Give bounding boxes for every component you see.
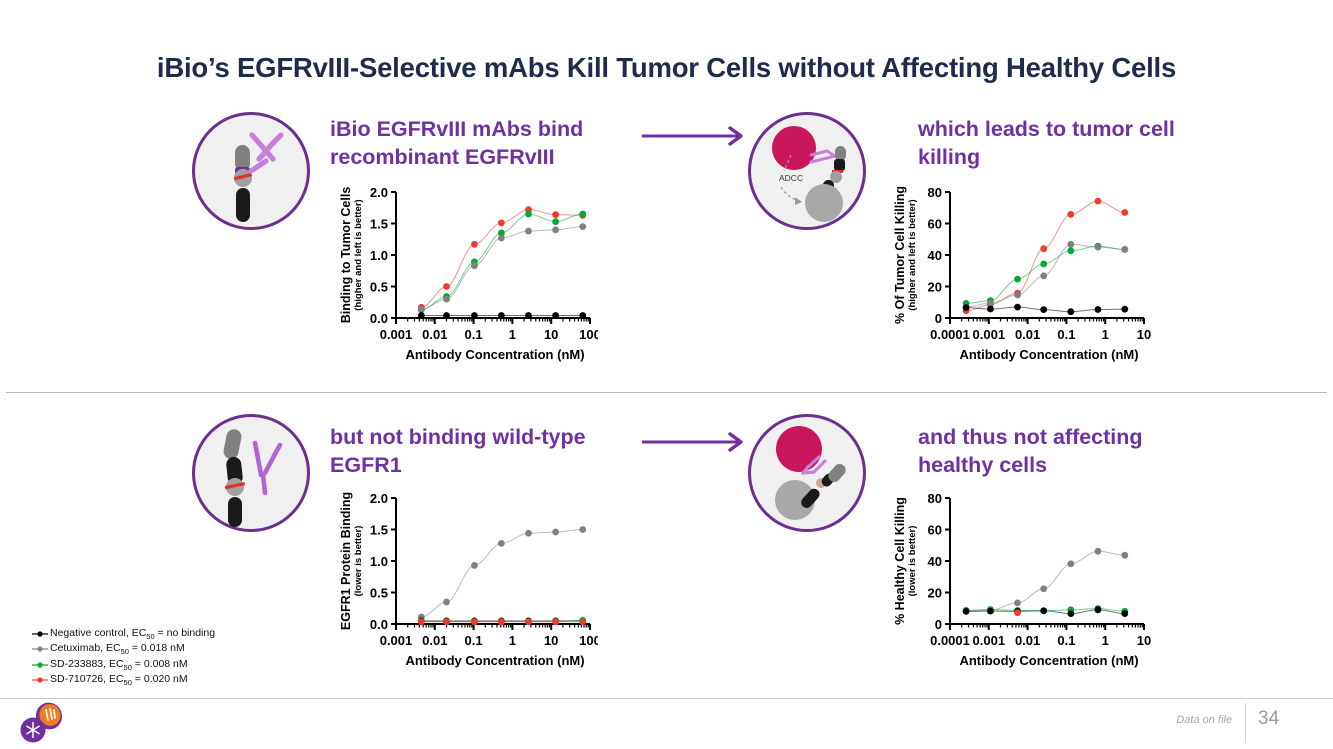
- data-point: [1095, 306, 1102, 313]
- data-point: [1121, 552, 1128, 559]
- data-point: [1095, 244, 1102, 251]
- data-point: [963, 304, 970, 311]
- data-point: [552, 529, 559, 536]
- x-axis-title: Antibody Concentration (nM): [959, 347, 1138, 362]
- source-note: Data on file: [1140, 714, 1232, 726]
- data-point: [1040, 607, 1047, 614]
- data-point: [1095, 548, 1102, 555]
- series-cetuximab: [418, 223, 586, 312]
- data-point: [1040, 585, 1047, 592]
- data-point: [471, 262, 478, 269]
- data-point: [471, 312, 478, 319]
- data-point: [498, 219, 505, 226]
- y-tick-label: 40: [928, 554, 942, 569]
- legend-label: Cetuximab, EC50 = 0.018 nM: [50, 642, 185, 656]
- data-point: [1067, 211, 1074, 218]
- diagram-antibody-not-binding-receptor: [192, 414, 310, 532]
- legend-label: Negative control, EC50 = no binding: [50, 627, 215, 641]
- receptor-chain: [234, 145, 252, 222]
- y-tick-label: 0: [935, 311, 942, 326]
- antibody-magenta: [251, 135, 281, 171]
- data-point: [579, 312, 586, 319]
- y-tick-label: 0.5: [370, 586, 388, 601]
- x-tick-label: 0.01: [422, 633, 447, 648]
- antibody-magenta: [811, 151, 835, 162]
- data-point: [1095, 198, 1102, 205]
- chart-egfr1-protein-binding-svg: 0.00.51.01.52.00.0010.010.1110100Antibod…: [336, 484, 598, 676]
- data-point: [1121, 246, 1128, 253]
- legend-marker-icon: [30, 675, 50, 685]
- series-sd-710726: [1014, 609, 1021, 616]
- x-tick-label: 100: [579, 633, 598, 648]
- chart-healthy-cell-killing-svg: 0204060800.00010.0010.010.1110Antibody C…: [890, 484, 1152, 676]
- data-point: [1040, 272, 1047, 279]
- x-tick-label: 0.01: [1015, 633, 1040, 648]
- footer-vertical-rule: [1245, 703, 1246, 743]
- data-point: [525, 228, 532, 235]
- data-point: [1040, 306, 1047, 313]
- data-point: [471, 241, 478, 248]
- x-axis-title: Antibody Concentration (nM): [405, 653, 584, 668]
- x-tick-label: 0.1: [465, 327, 483, 342]
- y-tick-label: 2.0: [370, 185, 388, 200]
- series-legend: Negative control, EC50 = no bindingCetux…: [30, 626, 215, 688]
- tumor-cell: [776, 426, 822, 472]
- y-tick-label: 20: [928, 280, 942, 295]
- x-tick-label: 10: [544, 633, 558, 648]
- x-tick-label: 0.1: [1057, 327, 1075, 342]
- data-point: [1014, 292, 1021, 299]
- data-point: [552, 218, 559, 225]
- x-tick-label: 0.0001: [930, 327, 970, 342]
- y-tick-label: 0.0: [370, 617, 388, 632]
- series-cetuximab: [963, 548, 1128, 614]
- y-tick-label: 80: [928, 491, 942, 506]
- data-point: [1095, 606, 1102, 613]
- legend-item-sd-233883: SD-233883, EC50 = 0.008 nM: [30, 657, 215, 673]
- y-tick-label: 0.5: [370, 280, 388, 295]
- svg-text:% Healthy Cell Killing: % Healthy Cell Killing: [893, 497, 907, 625]
- data-point: [1014, 276, 1021, 283]
- data-point: [498, 235, 505, 242]
- y-tick-label: 80: [928, 185, 942, 200]
- x-tick-label: 1: [509, 327, 516, 342]
- x-tick-label: 1: [509, 633, 516, 648]
- ibio-logo: [18, 702, 66, 744]
- data-point: [498, 618, 505, 625]
- panel-heading-4: and thus not affecting healthy cells: [918, 424, 1198, 479]
- svg-text:Binding to Tumor Cells: Binding to Tumor Cells: [339, 187, 353, 324]
- x-tick-label: 0.001: [973, 327, 1006, 342]
- chart-binding-tumor-cells-svg: 0.00.51.01.52.00.0010.010.1110100Antibod…: [336, 178, 598, 370]
- legend-label: SD-710726, EC50 = 0.020 nM: [50, 673, 188, 687]
- data-point: [1067, 610, 1074, 617]
- data-point: [525, 211, 532, 218]
- diagram-adcc-tumor-cell-killing: ADCC: [748, 112, 866, 230]
- slide-root: iBio’s EGFRvIII-Selective mAbs Kill Tumo…: [0, 0, 1333, 749]
- data-point: [552, 312, 559, 319]
- data-point: [1121, 306, 1128, 313]
- panel-heading-2: which leads to tumor cell killing: [918, 116, 1188, 171]
- y-tick-label: 0.0: [370, 311, 388, 326]
- legend-marker-icon: [30, 629, 50, 639]
- series-sd-710726: [963, 198, 1128, 314]
- data-point: [418, 312, 425, 319]
- data-point: [1040, 245, 1047, 252]
- x-tick-label: 0.001: [973, 633, 1006, 648]
- series-sd-710726: [418, 206, 586, 310]
- diagram-healthy-cell-unaffected: [748, 414, 866, 532]
- x-tick-label: 0.0001: [930, 633, 970, 648]
- data-point: [498, 312, 505, 319]
- svg-text:(higher and left is better): (higher and left is better): [353, 199, 364, 310]
- panel-heading-1: iBio EGFRvIII mAbs bind recombinant EGFR…: [330, 116, 620, 171]
- chart-healthy-cell-killing: 0204060800.00010.0010.010.1110Antibody C…: [890, 484, 1152, 676]
- flow-arrow-1: [642, 126, 750, 151]
- x-tick-label: 0.001: [380, 327, 413, 342]
- x-tick-label: 0.1: [465, 633, 483, 648]
- data-point: [579, 223, 586, 230]
- x-tick-label: 1: [1102, 327, 1109, 342]
- x-tick-label: 0.01: [1015, 327, 1040, 342]
- y-tick-label: 60: [928, 217, 942, 232]
- data-point: [1014, 304, 1021, 311]
- x-tick-label: 0.1: [1057, 633, 1075, 648]
- data-point: [963, 608, 970, 615]
- svg-text:EGFR1 Protein Binding: EGFR1 Protein Binding: [339, 492, 353, 630]
- legend-item-negative-control: Negative control, EC50 = no binding: [30, 626, 215, 642]
- legend-label: SD-233883, EC50 = 0.008 nM: [50, 658, 188, 672]
- data-point: [1067, 241, 1074, 248]
- diagram-antibody-binding-receptor: [192, 112, 310, 230]
- adcc-label: ADCC: [779, 173, 803, 183]
- x-tick-label: 100: [579, 327, 598, 342]
- data-point: [525, 618, 532, 625]
- x-axis-title: Antibody Concentration (nM): [959, 653, 1138, 668]
- chart-egfr1-protein-binding: 0.00.51.01.52.00.0010.010.1110100Antibod…: [336, 484, 598, 676]
- data-point: [1121, 610, 1128, 617]
- data-point: [1040, 261, 1047, 268]
- flow-arrow-2: [642, 432, 750, 457]
- y-axis-title: Binding to Tumor Cells(higher and left i…: [339, 187, 364, 324]
- data-point: [1067, 247, 1074, 254]
- chart-binding-tumor-cells: 0.00.51.01.52.00.0010.010.1110100Antibod…: [336, 178, 598, 370]
- data-point: [579, 618, 586, 625]
- x-tick-label: 10: [544, 327, 558, 342]
- data-point: [471, 618, 478, 625]
- x-tick-label: 0.01: [422, 327, 447, 342]
- y-tick-label: 1.5: [370, 217, 388, 232]
- y-axis-title: % Healthy Cell Killing(lower is better): [893, 497, 918, 625]
- data-point: [552, 226, 559, 233]
- data-point: [418, 306, 425, 313]
- data-point: [1014, 599, 1021, 606]
- page-number: 34: [1258, 708, 1279, 730]
- antibody-magenta: [255, 443, 280, 493]
- data-point: [443, 296, 450, 303]
- data-point: [443, 283, 450, 290]
- data-point: [1121, 209, 1128, 216]
- page-title: iBio’s EGFRvIII-Selective mAbs Kill Tumo…: [0, 52, 1333, 84]
- svg-text:% Of Tumor Cell Killing: % Of Tumor Cell Killing: [893, 186, 907, 324]
- data-point: [552, 618, 559, 625]
- y-tick-label: 2.0: [370, 491, 388, 506]
- y-tick-label: 20: [928, 586, 942, 601]
- data-point: [443, 599, 450, 606]
- y-axis-title: EGFR1 Protein Binding(lower is better): [339, 492, 364, 630]
- immune-cell: [805, 184, 843, 222]
- receptor-chain: [222, 428, 245, 527]
- data-point: [1067, 560, 1074, 567]
- chart-tumor-cell-killing: 0204060800.00010.0010.010.1110Antibody C…: [890, 178, 1152, 370]
- fit-curve-sd-710726: [966, 201, 1125, 311]
- data-point: [443, 618, 450, 625]
- chart-tumor-cell-killing-svg: 0204060800.00010.0010.010.1110Antibody C…: [890, 178, 1152, 370]
- series-cetuximab: [418, 526, 586, 620]
- legend-item-cetuximab: Cetuximab, EC50 = 0.018 nM: [30, 642, 215, 658]
- svg-text:(higher and left is better): (higher and left is better): [907, 199, 918, 310]
- data-point: [987, 306, 994, 313]
- y-tick-label: 40: [928, 248, 942, 263]
- panel-heading-3: but not binding wild-type EGFR1: [330, 424, 630, 479]
- y-tick-label: 0: [935, 617, 942, 632]
- tumor-cell: [772, 126, 816, 170]
- data-point: [418, 618, 425, 625]
- footer-divider: [0, 698, 1333, 699]
- x-tick-label: 0.001: [380, 633, 413, 648]
- svg-text:(lower is better): (lower is better): [353, 526, 364, 597]
- svg-text:(lower is better): (lower is better): [907, 526, 918, 597]
- data-point: [987, 300, 994, 307]
- data-point: [579, 526, 586, 533]
- data-point: [525, 530, 532, 537]
- data-point: [1014, 609, 1021, 616]
- legend-item-sd-710726: SD-710726, EC50 = 0.020 nM: [30, 673, 215, 689]
- y-axis-title: % Of Tumor Cell Killing(higher and left …: [893, 186, 918, 324]
- y-tick-label: 1.0: [370, 248, 388, 263]
- x-axis-title: Antibody Concentration (nM): [405, 347, 584, 362]
- data-point: [443, 312, 450, 319]
- data-point: [1067, 308, 1074, 315]
- y-tick-label: 1.5: [370, 523, 388, 538]
- legend-marker-icon: [30, 644, 50, 654]
- data-point: [987, 608, 994, 615]
- data-point: [525, 312, 532, 319]
- legend-marker-icon: [30, 660, 50, 670]
- x-tick-label: 10: [1137, 327, 1151, 342]
- y-tick-label: 1.0: [370, 554, 388, 569]
- x-tick-label: 10: [1137, 633, 1151, 648]
- data-point: [552, 211, 559, 218]
- data-point: [471, 562, 478, 569]
- x-tick-label: 1: [1102, 633, 1109, 648]
- fit-curve-cetuximab: [966, 551, 1125, 611]
- section-divider: [6, 392, 1327, 393]
- data-point: [579, 211, 586, 218]
- data-point: [498, 540, 505, 547]
- y-tick-label: 60: [928, 523, 942, 538]
